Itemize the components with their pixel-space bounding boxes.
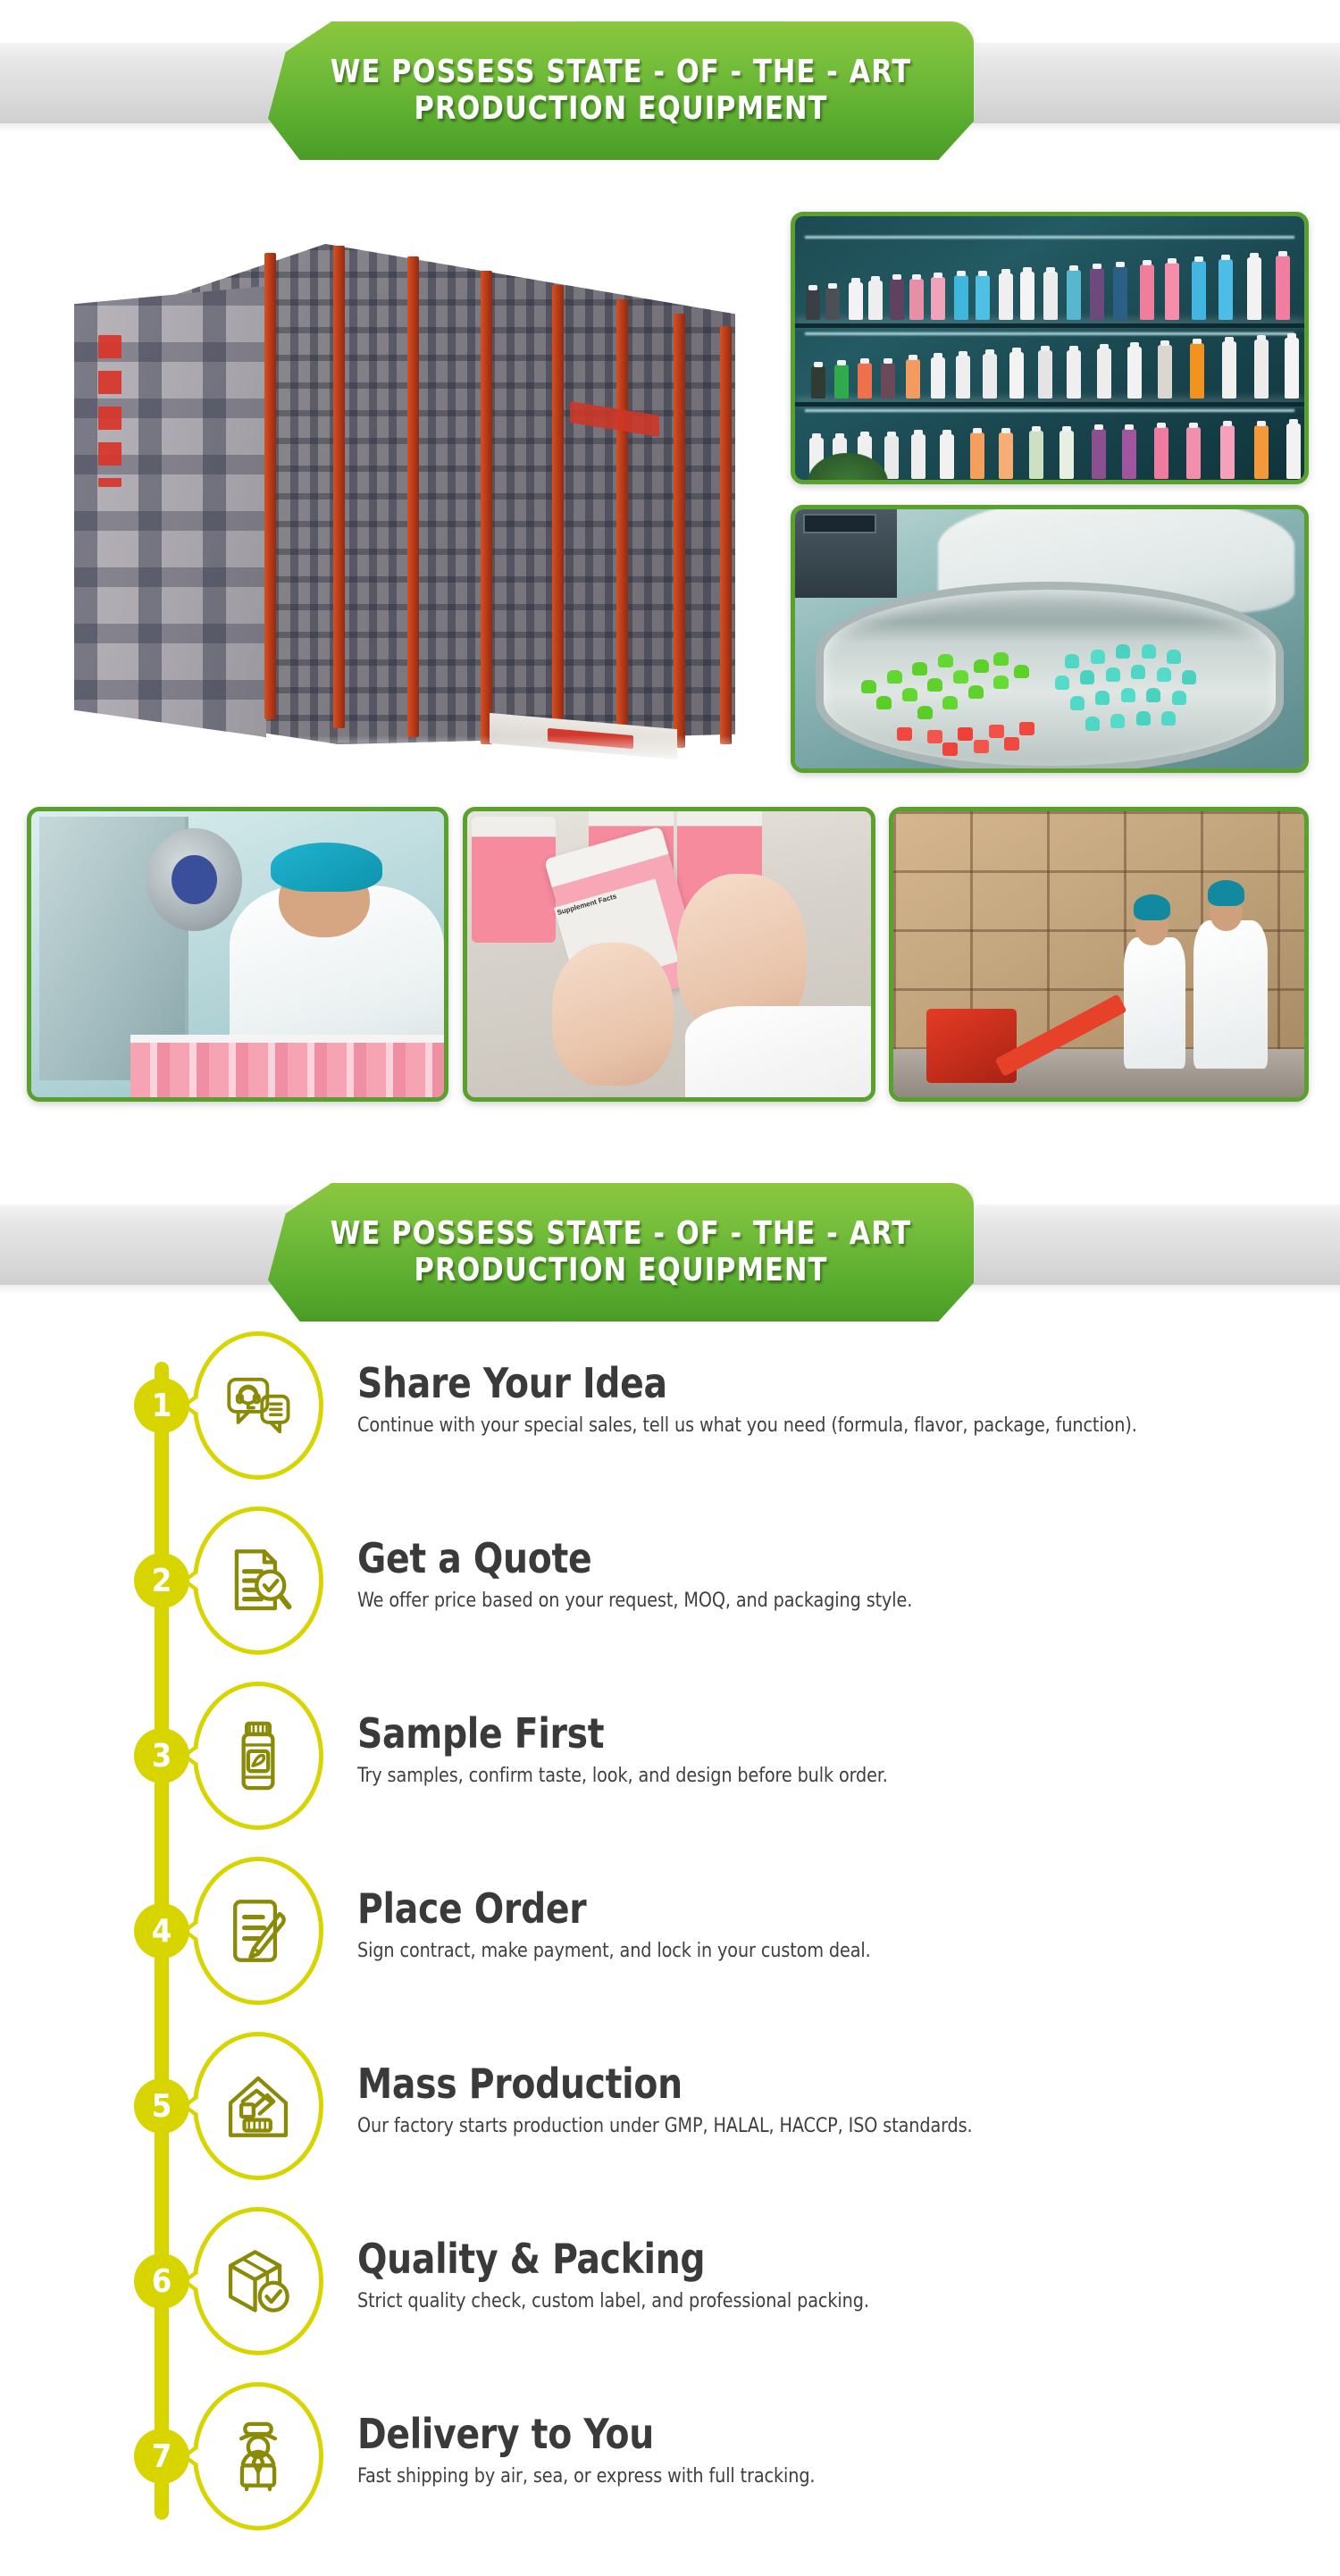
machine-reel bbox=[147, 828, 241, 931]
step-desc-1: Continue with your special sales, tell u… bbox=[357, 1414, 1276, 1439]
document-search-check-icon bbox=[220, 1542, 297, 1619]
step-text-4: Place Order Sign contract, make payment,… bbox=[357, 1887, 1304, 1964]
shelf-bottle bbox=[1219, 259, 1233, 320]
teal-bear-gummy bbox=[1161, 711, 1176, 726]
shelf-bottle bbox=[999, 273, 1013, 320]
teal-bear-gummy bbox=[1157, 667, 1171, 682]
green-gummy bbox=[876, 696, 892, 709]
shelf-bottle bbox=[1059, 431, 1074, 479]
step-icon-bubble-4 bbox=[193, 1857, 323, 2005]
orange-column-1 bbox=[264, 253, 276, 719]
order-process-timeline: 1 Share Your Idea bbox=[0, 1331, 1340, 2557]
factory-machine-icon bbox=[220, 2068, 297, 2144]
shelf-bottle bbox=[1113, 266, 1127, 320]
shelf-bottle bbox=[825, 288, 840, 320]
step-title-6: Quality & Packing bbox=[357, 2237, 1257, 2280]
green-gummy bbox=[974, 659, 989, 673]
shelf-bottle bbox=[911, 434, 925, 479]
warehouse-worker-1-hairnet bbox=[1134, 894, 1170, 920]
step-number-badge-7: 7 bbox=[134, 2429, 189, 2484]
step-text-3: Sample First Try samples, confirm taste,… bbox=[357, 1712, 1304, 1789]
shelf-bottle bbox=[1254, 340, 1269, 399]
step-title-4: Place Order bbox=[357, 1887, 1257, 1930]
shelf-bottle bbox=[956, 356, 970, 399]
step-icon-bubble-6 bbox=[193, 2207, 323, 2355]
process-headline-banner: WE POSSESS STATE - OF - THE - ART PRODUC… bbox=[0, 1162, 1340, 1340]
shelf-bottle bbox=[970, 432, 984, 479]
teal-bear-gummy bbox=[1136, 711, 1151, 726]
step-icon-bubble-7 bbox=[193, 2382, 323, 2530]
banner-title-line2: PRODUCTION EQUIPMENT bbox=[415, 90, 828, 127]
shelf-bottle bbox=[1165, 263, 1179, 320]
teal-bear-gummy bbox=[1080, 670, 1094, 684]
shelf-bottle bbox=[811, 366, 825, 399]
factory-building-photo bbox=[25, 201, 766, 773]
process-step-6[interactable]: 6 Quality & Packing Strict quality check… bbox=[0, 2207, 1340, 2382]
shelf-bottle bbox=[858, 363, 872, 399]
step-number-badge-3: 3 bbox=[134, 1728, 189, 1783]
shelf-board-2 bbox=[795, 402, 1304, 407]
green-gummy bbox=[1014, 665, 1029, 678]
left-hand bbox=[552, 943, 674, 1086]
shelf-bottle bbox=[1192, 261, 1206, 320]
teal-bear-gummy bbox=[1085, 717, 1100, 731]
step-text-1: Share Your Idea Continue with your speci… bbox=[357, 1362, 1304, 1439]
orange-column-3 bbox=[407, 256, 419, 737]
gummy-production-photo bbox=[791, 505, 1309, 773]
shelf-bottle bbox=[834, 365, 849, 399]
process-step-5[interactable]: 5 Mass Production Our factory starts pro… bbox=[0, 2032, 1340, 2207]
green-gummy bbox=[968, 685, 984, 699]
delivery-person-icon bbox=[220, 2418, 297, 2495]
teal-bear-gummy bbox=[1131, 665, 1145, 679]
orange-column-5 bbox=[552, 285, 564, 748]
shelf-bottle bbox=[976, 275, 990, 320]
step-desc-7: Fast shipping by air, sea, or express wi… bbox=[357, 2464, 1276, 2489]
factory-photo-gallery: Supplement Facts bbox=[0, 201, 1340, 1148]
step-title-2: Get a Quote bbox=[357, 1537, 1257, 1580]
shelf-bottle bbox=[1067, 350, 1081, 399]
step-number-badge-6: 6 bbox=[134, 2253, 189, 2309]
chat-support-icon bbox=[220, 1367, 297, 1444]
banner-title-top: WE POSSESS STATE - OF - THE - ART PRODUC… bbox=[306, 55, 937, 127]
green-gummy bbox=[861, 680, 876, 693]
step-icon-bubble-5 bbox=[193, 2032, 323, 2180]
shelf-bottle bbox=[931, 357, 945, 399]
shelf-bottle bbox=[999, 432, 1013, 479]
green-gummy bbox=[917, 706, 933, 719]
shelf-bottle bbox=[849, 282, 863, 320]
banner-green-shape: WE POSSESS STATE - OF - THE - ART PRODUC… bbox=[268, 1183, 974, 1322]
decorative-plant bbox=[808, 453, 888, 483]
red-gummy bbox=[942, 743, 958, 756]
worker-blue-hairnet bbox=[271, 843, 382, 891]
shelf-bottle bbox=[1154, 427, 1168, 479]
red-gummy bbox=[974, 740, 989, 753]
building-base-fade bbox=[88, 735, 731, 773]
red-gummy bbox=[1004, 737, 1019, 751]
step-number-badge-2: 2 bbox=[134, 1553, 189, 1608]
teal-bear-gummy bbox=[1182, 670, 1196, 684]
step-text-6: Quality & Packing Strict quality check, … bbox=[357, 2237, 1304, 2314]
shelf-bottle bbox=[806, 289, 820, 320]
shelf-bottle bbox=[1158, 345, 1172, 399]
orange-column-2 bbox=[333, 246, 345, 728]
shelf-bottle bbox=[954, 275, 968, 320]
step-title-1: Share Your Idea bbox=[357, 1362, 1257, 1405]
pink-bottle-line bbox=[130, 1035, 444, 1097]
step-number-badge-4: 4 bbox=[134, 1903, 189, 1959]
red-gummy bbox=[958, 727, 973, 741]
controller-screen bbox=[803, 514, 876, 533]
box-check-icon bbox=[220, 2243, 297, 2320]
red-gummy bbox=[927, 730, 942, 743]
step-text-2: Get a Quote We offer price based on your… bbox=[357, 1537, 1304, 1614]
shelf-bottle bbox=[1186, 427, 1201, 479]
shelf-bottle bbox=[1038, 350, 1052, 399]
banner-green-shape: WE POSSESS STATE - OF - THE - ART PRODUC… bbox=[268, 21, 974, 160]
shelf-bottle bbox=[1247, 257, 1261, 320]
green-gummy bbox=[927, 678, 942, 692]
step-title-3: Sample First bbox=[357, 1712, 1257, 1755]
step-title-5: Mass Production bbox=[357, 2062, 1257, 2105]
shelf-bottle bbox=[1140, 264, 1154, 320]
shelf-led-strip-1 bbox=[805, 236, 1294, 239]
bottling-worker-photo bbox=[27, 807, 448, 1102]
shelf-bottle bbox=[1285, 338, 1299, 399]
step-number-badge-5: 5 bbox=[134, 2078, 189, 2134]
banner-title-mid: WE POSSESS STATE - OF - THE - ART PRODUC… bbox=[306, 1216, 937, 1288]
shelf-bottle bbox=[1220, 425, 1235, 479]
red-gummy bbox=[989, 725, 1004, 738]
teal-bear-gummy bbox=[1121, 688, 1135, 702]
shelf-led-strip-2 bbox=[805, 332, 1294, 335]
green-gummy bbox=[942, 696, 958, 709]
machine-controller-panel bbox=[795, 509, 897, 598]
warehouse-worker-1-coat bbox=[1124, 937, 1185, 1069]
step-desc-5: Our factory starts production under GMP,… bbox=[357, 2114, 1276, 2139]
process-step-7[interactable]: 7 Delivery to You Fast shipping by air, bbox=[0, 2382, 1340, 2557]
orange-column-7 bbox=[674, 314, 685, 748]
shelf-bottle bbox=[1029, 431, 1043, 479]
shelf-bottle bbox=[1092, 429, 1106, 479]
banner-title-line2: PRODUCTION EQUIPMENT bbox=[415, 1252, 828, 1288]
shelf-bottle bbox=[1090, 268, 1104, 320]
shelf-bottle bbox=[906, 359, 920, 399]
supplement-bottle-icon bbox=[220, 1717, 297, 1794]
step-desc-2: We offer price based on your request, MO… bbox=[357, 1589, 1276, 1614]
teal-bear-gummy bbox=[1095, 691, 1110, 705]
step-icon-bubble-3 bbox=[193, 1682, 323, 1830]
shelf-bottle bbox=[868, 281, 883, 320]
orange-column-4 bbox=[481, 271, 492, 744]
shelf-bottle bbox=[1122, 429, 1136, 479]
green-gummy bbox=[902, 688, 917, 701]
teal-bear-gummy bbox=[1106, 667, 1120, 682]
teal-bear-gummy bbox=[1110, 714, 1125, 728]
shelf-bottle bbox=[1127, 347, 1142, 399]
step-title-7: Delivery to You bbox=[357, 2412, 1257, 2455]
green-gummy bbox=[938, 654, 953, 667]
step-icon-bubble-1 bbox=[193, 1331, 323, 1480]
green-gummy bbox=[993, 675, 1009, 689]
shelf-bottle bbox=[1097, 348, 1111, 399]
teal-bear-gummy bbox=[1172, 691, 1186, 705]
warehouse-shipping-photo bbox=[889, 807, 1309, 1102]
process-step-2[interactable]: 2 Get a Quote We offer price based on yo… bbox=[0, 1506, 1340, 1682]
shelf-bottle bbox=[931, 277, 945, 320]
step-desc-4: Sign contract, make payment, and lock in… bbox=[357, 1939, 1276, 1964]
banner-title-line1: WE POSSESS STATE - OF - THE - ART bbox=[331, 54, 911, 90]
shelf-bottle bbox=[1067, 270, 1081, 320]
step-icon-bubble-2 bbox=[193, 1506, 323, 1655]
step-desc-3: Try samples, confirm taste, look, and de… bbox=[357, 1764, 1276, 1789]
shelf-bottle bbox=[1009, 352, 1024, 399]
shelf-bottle bbox=[1190, 343, 1204, 399]
building-illustration bbox=[25, 201, 766, 773]
teal-bear-gummy bbox=[1070, 696, 1085, 710]
shelf-bottle bbox=[1276, 256, 1290, 320]
shelf-bottle bbox=[1286, 424, 1301, 479]
shelf-led-strip-3 bbox=[805, 409, 1294, 412]
red-gummy bbox=[897, 727, 912, 741]
teal-bear-gummy bbox=[1142, 644, 1156, 659]
orange-column-8 bbox=[720, 326, 732, 744]
shelf-bottle bbox=[983, 354, 997, 399]
orange-column-6 bbox=[616, 299, 628, 748]
building-vertical-signage bbox=[98, 335, 121, 487]
warehouse-worker-2-hairnet bbox=[1208, 880, 1244, 906]
shelf-bottle bbox=[909, 279, 924, 320]
shelf-board-1 bbox=[795, 323, 1304, 328]
step-text-7: Delivery to You Fast shipping by air, se… bbox=[357, 2412, 1304, 2489]
shelf-bottle bbox=[890, 279, 904, 320]
process-step-1[interactable]: 1 Share Your Idea bbox=[0, 1331, 1340, 1506]
stainless-gummy-tray bbox=[816, 582, 1284, 773]
green-gummy bbox=[912, 662, 927, 675]
shelf-bottle bbox=[1043, 272, 1058, 320]
product-shelf-photo bbox=[791, 212, 1309, 484]
top-headline-banner: WE POSSESS STATE - OF - THE - ART PRODUC… bbox=[0, 0, 1340, 179]
green-gummy bbox=[993, 652, 1009, 666]
teal-bear-gummy bbox=[1091, 650, 1105, 664]
process-step-3[interactable]: 3 Sample First Try samples, confirm tast… bbox=[0, 1682, 1340, 1857]
contract-pen-icon bbox=[220, 1892, 297, 1969]
shelf-bottle bbox=[1254, 425, 1269, 479]
banner-title-line1: WE POSSESS STATE - OF - THE - ART bbox=[331, 1215, 911, 1252]
process-step-4[interactable]: 4 Place Order Sign contract, make paymen… bbox=[0, 1857, 1340, 2032]
step-desc-6: Strict quality check, custom label, and … bbox=[357, 2289, 1276, 2314]
teal-bear-gummy bbox=[1065, 654, 1079, 668]
step-text-5: Mass Production Our factory starts produ… bbox=[357, 2062, 1304, 2139]
red-gummy bbox=[1019, 722, 1034, 735]
shelf-bottle bbox=[940, 434, 954, 479]
green-gummy bbox=[887, 670, 902, 684]
background-bottle bbox=[472, 817, 557, 943]
shelf-bottle bbox=[881, 363, 895, 399]
shelf-bottle bbox=[1020, 272, 1034, 320]
teal-bear-gummy bbox=[1146, 688, 1160, 702]
label-inspection-photo: Supplement Facts bbox=[463, 807, 875, 1102]
teal-bear-gummy bbox=[1055, 675, 1069, 690]
step-number-badge-1: 1 bbox=[134, 1378, 189, 1433]
teal-bear-gummy bbox=[1167, 650, 1181, 664]
lab-coat-sleeve bbox=[685, 1006, 875, 1102]
green-gummy bbox=[953, 670, 968, 684]
teal-bear-gummy bbox=[1116, 644, 1130, 659]
warehouse-worker-2-coat bbox=[1193, 920, 1268, 1069]
shelf-bottle bbox=[1222, 341, 1236, 399]
